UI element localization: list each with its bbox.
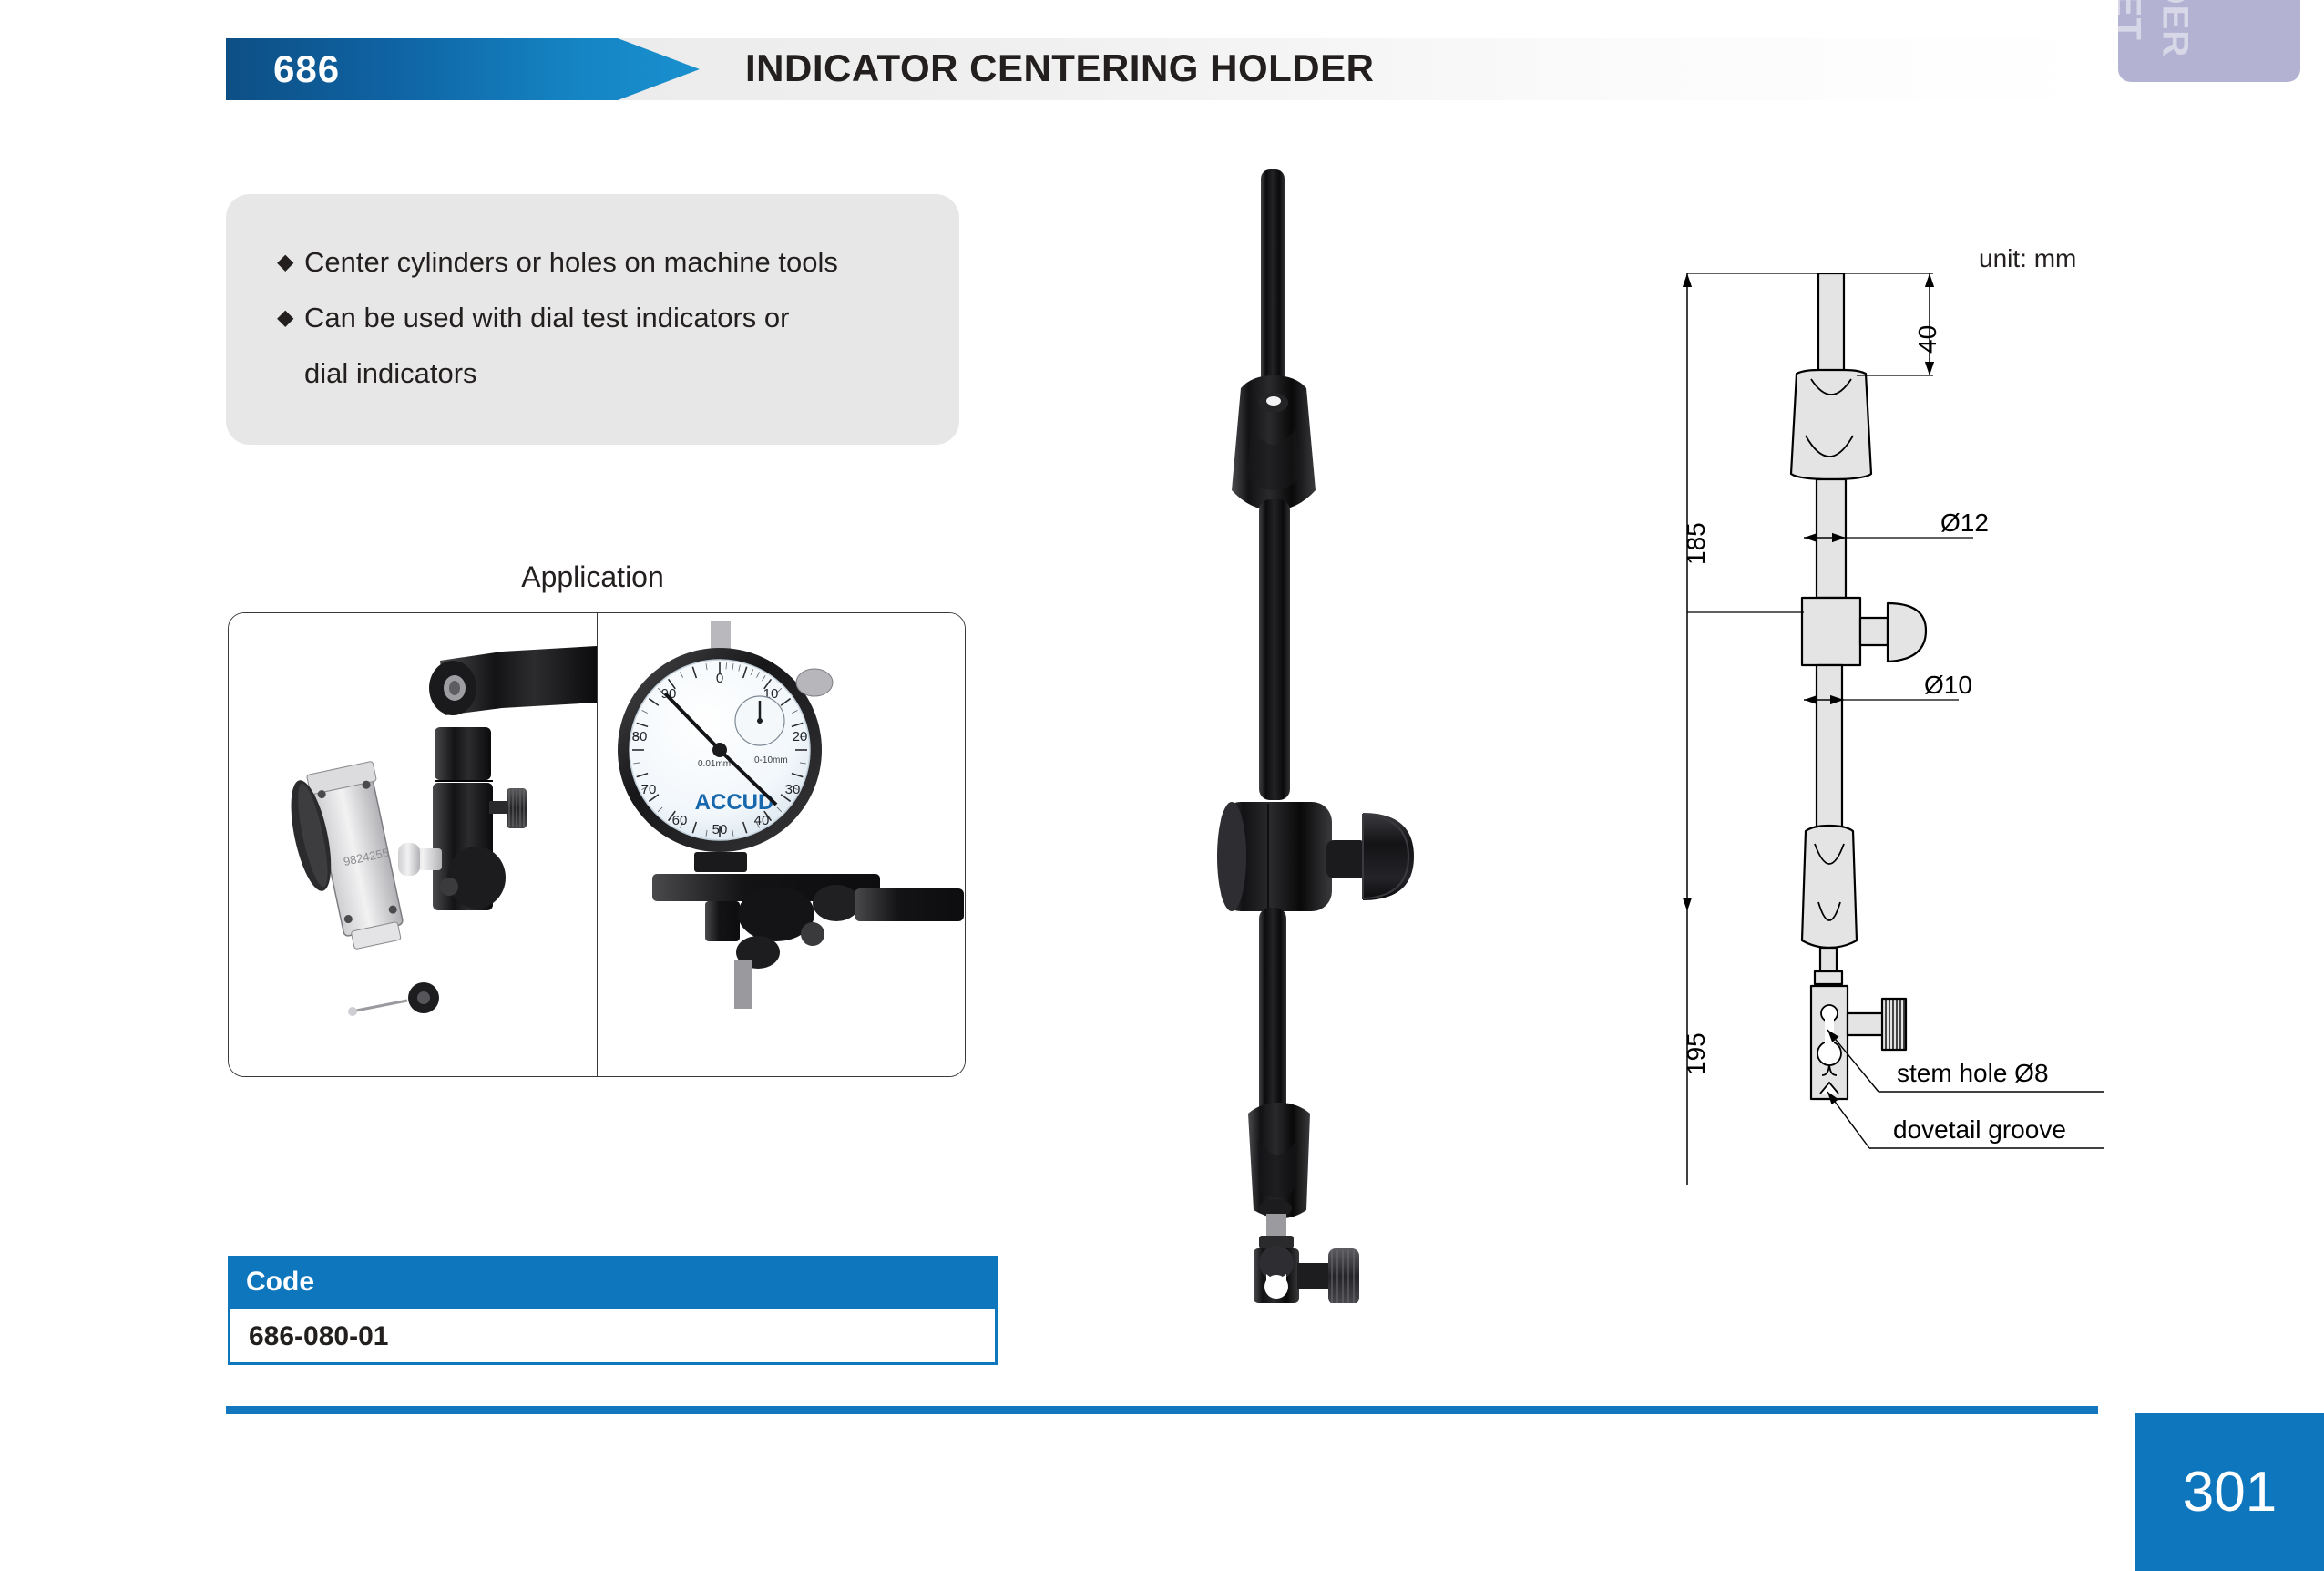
svg-text:80: 80 (632, 729, 648, 744)
application-photo-right: 0 10 20 30 40 50 60 70 80 90 0.01mm 0-10 (598, 613, 966, 1077)
dimension-label-d12: Ø12 (1940, 508, 1989, 538)
annotation-stem-hole: stem hole Ø8 (1897, 1059, 2049, 1088)
code-table: Code 686-080-01 (228, 1256, 998, 1365)
product-series-code: 686 (273, 38, 340, 100)
svg-text:0.01mm: 0.01mm (698, 759, 731, 769)
page-title: INDICATOR CENTERING HOLDER (745, 38, 1374, 100)
feature-box: ◆ Center cylinders or holes on machine t… (226, 194, 959, 445)
svg-text:ACCUD: ACCUD (695, 790, 774, 815)
index-tab-line2: SET (2118, 0, 2148, 82)
application-photo-left: 9824255 (229, 613, 597, 1077)
indicator-centering-holder-photo (1175, 164, 1558, 1303)
dimension-label-d10: Ø10 (1924, 671, 1972, 700)
index-tab-line1: NDER (2155, 0, 2196, 82)
dimension-label-40: 40 (1913, 325, 1942, 354)
application-photo-panel: 9824255 (228, 612, 966, 1077)
feature-item-label: Center cylinders or holes on machine too… (304, 234, 933, 290)
code-table-header: Code (228, 1256, 998, 1309)
page-header: 686 INDICATOR CENTERING HOLDER (226, 38, 2098, 100)
footer-rule (226, 1406, 2098, 1414)
svg-text:20: 20 (793, 729, 808, 744)
dimension-drawing-svg (1667, 273, 2305, 1239)
index-tab-inner: NDER SET (2118, 0, 2300, 82)
svg-text:0: 0 (716, 671, 723, 686)
technical-drawing: 185 195 40 Ø12 Ø10 stem hole Ø8 dovetail… (1667, 273, 2305, 1239)
svg-text:30: 30 (785, 782, 801, 797)
page-number: 301 (2135, 1413, 2324, 1571)
catalog-page: NDER SET 686 INDICATOR CENTERING HOLDER … (0, 0, 2324, 1571)
annotation-dovetail-groove: dovetail groove (1893, 1115, 2066, 1145)
unit-label: unit: mm (1979, 244, 2076, 273)
application-caption: Application (226, 560, 959, 594)
dimension-label-195: 195 (1682, 1032, 1711, 1075)
svg-text:50: 50 (712, 822, 728, 837)
diamond-bullet-icon: ◆ (277, 290, 304, 345)
feature-item-label: Can be used with dial test indicators or (304, 290, 933, 345)
section-index-tab: NDER SET (2118, 0, 2300, 82)
svg-text:0-10mm: 0-10mm (754, 755, 788, 765)
feature-item-continuation: dial indicators (277, 345, 933, 401)
feature-item: ◆ Center cylinders or holes on machine t… (277, 234, 933, 290)
dimension-label-185: 185 (1682, 522, 1711, 565)
product-photo (1175, 164, 1558, 1303)
dial-test-indicator-photo: 9824255 (229, 613, 597, 1077)
table-row: 686-080-01 (228, 1309, 998, 1365)
dial-indicator-photo: 0 10 20 30 40 50 60 70 80 90 0.01mm 0-10 (598, 613, 966, 1077)
feature-list: ◆ Center cylinders or holes on machine t… (277, 234, 933, 401)
svg-text:70: 70 (641, 782, 657, 797)
feature-item: ◆ Can be used with dial test indicators … (277, 290, 933, 345)
diamond-bullet-icon: ◆ (277, 234, 304, 290)
svg-text:60: 60 (672, 813, 688, 828)
svg-text:40: 40 (754, 813, 770, 828)
